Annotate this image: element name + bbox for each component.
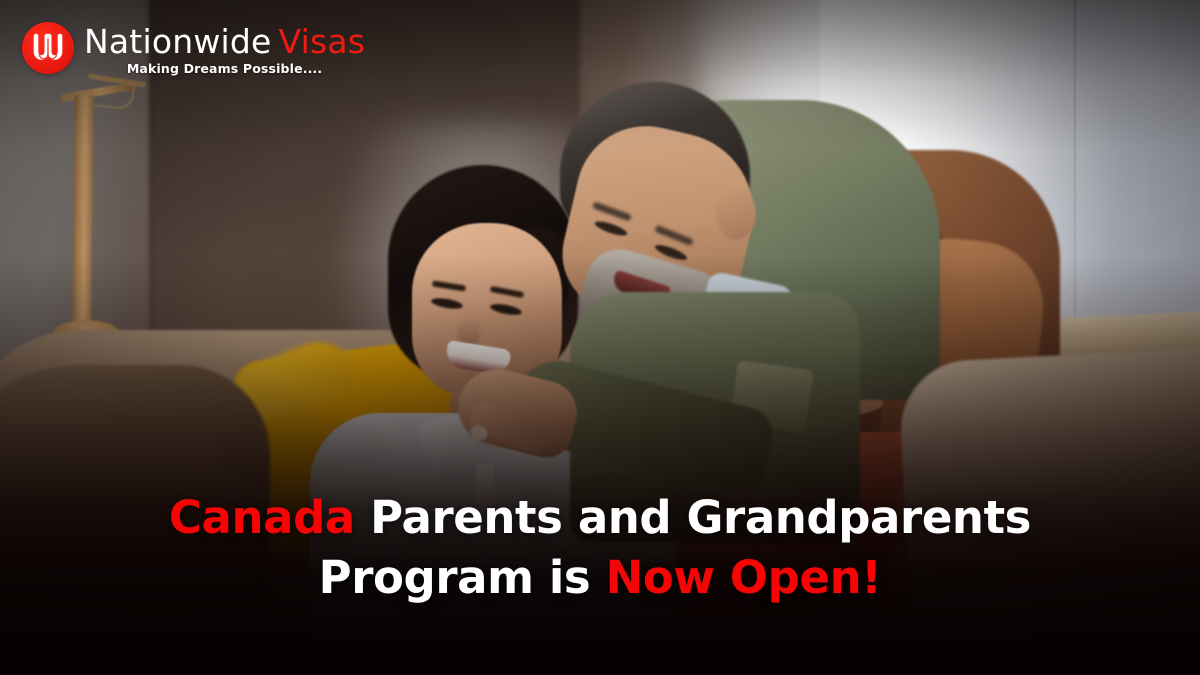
- headline-text-parents: Parents and Grandparents: [370, 491, 1031, 544]
- headline-accent-canada: Canada: [169, 491, 355, 544]
- headline-text-program: Program is: [319, 551, 591, 604]
- logo-name-primary: Nationwide: [84, 22, 272, 61]
- logo-wordmark: NationwideVisas Making Dreams Possible..…: [84, 22, 365, 76]
- page-title: Canada Parents and Grandparents Program …: [0, 488, 1200, 608]
- headline-line-1: Canada Parents and Grandparents: [0, 488, 1200, 548]
- headline-accent-now-open: Now Open!: [606, 551, 882, 604]
- headline-line-2: Program is Now Open!: [0, 548, 1200, 608]
- nationwide-visas-monogram-icon: [22, 22, 74, 74]
- logo-name-secondary: Visas: [279, 22, 366, 61]
- promo-banner: NationwideVisas Making Dreams Possible..…: [0, 0, 1200, 675]
- logo-tagline: Making Dreams Possible....: [84, 63, 365, 76]
- bottom-vignette: [0, 255, 1200, 675]
- logo-title: NationwideVisas: [84, 25, 365, 58]
- brand-logo[interactable]: NationwideVisas Making Dreams Possible..…: [22, 22, 365, 76]
